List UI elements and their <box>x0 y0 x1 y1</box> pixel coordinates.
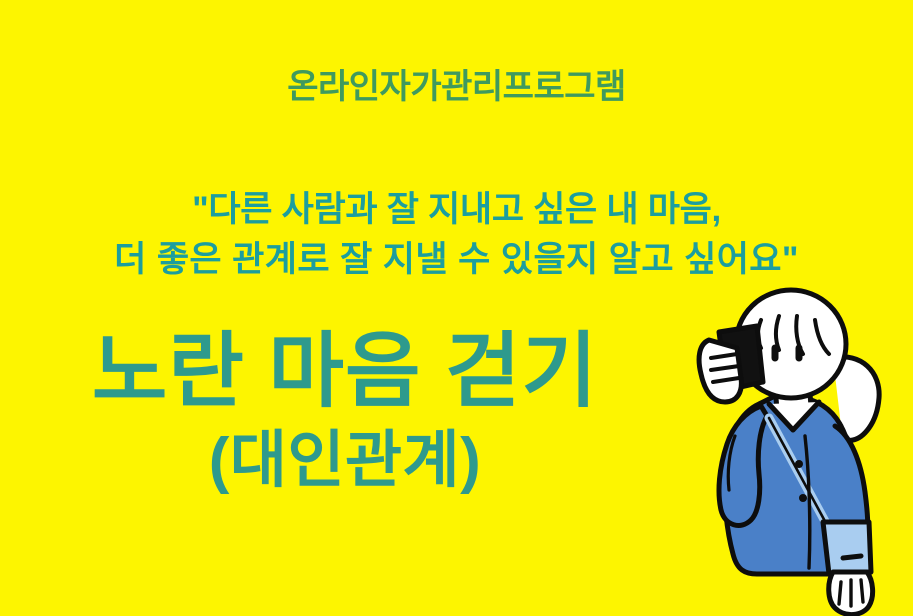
bangs-stroke-3 <box>796 316 803 354</box>
neck <box>775 382 811 420</box>
right-hand <box>829 572 873 615</box>
phone-shape <box>719 326 763 390</box>
bangs-stroke-2 <box>776 316 779 350</box>
bag-strap-outline <box>769 418 833 536</box>
right-cuff-detail <box>843 556 861 558</box>
collar <box>769 402 819 430</box>
jacket-seam <box>805 436 810 568</box>
finger-2 <box>711 366 739 370</box>
bangs-stroke-4 <box>815 320 829 354</box>
finger-3 <box>713 378 739 382</box>
button-lower <box>799 494 807 502</box>
sub-heading: (대인관계) <box>10 428 680 493</box>
right-arm <box>835 426 868 571</box>
right-finger-1 <box>839 582 841 604</box>
left-sleeve-fold <box>728 436 735 490</box>
quote-line-1: "다른 사람과 잘 지내고 싶은 내 마음, <box>0 185 913 235</box>
person-on-phone-svg <box>683 286 913 616</box>
jacket-body <box>724 394 855 574</box>
left-arm <box>719 406 767 525</box>
main-heading: 노란 마음 걷기 <box>10 330 680 414</box>
poster-canvas: 온라인자가관리프로그램 "다른 사람과 잘 지내고 싶은 내 마음, 더 좋은 … <box>0 0 913 616</box>
bangs-stroke-1 <box>758 320 761 348</box>
bag-strap-fill <box>769 418 833 536</box>
left-hand <box>699 340 741 402</box>
person-on-phone-illustration <box>683 286 913 616</box>
button-upper <box>795 460 803 468</box>
right-finger-3 <box>861 580 863 602</box>
ponytail-shape <box>833 357 879 440</box>
quote-line-2: 더 좋은 관계로 잘 지낼 수 있을지 알고 싶어요" <box>0 235 913 285</box>
quote-block: "다른 사람과 잘 지내고 싶은 내 마음, 더 좋은 관계로 잘 지낼 수 있… <box>0 185 913 284</box>
finger-1 <box>711 354 737 358</box>
head-shape <box>736 290 846 398</box>
bag-pouch <box>823 522 871 574</box>
program-title: 온라인자가관리프로그램 <box>0 68 913 107</box>
